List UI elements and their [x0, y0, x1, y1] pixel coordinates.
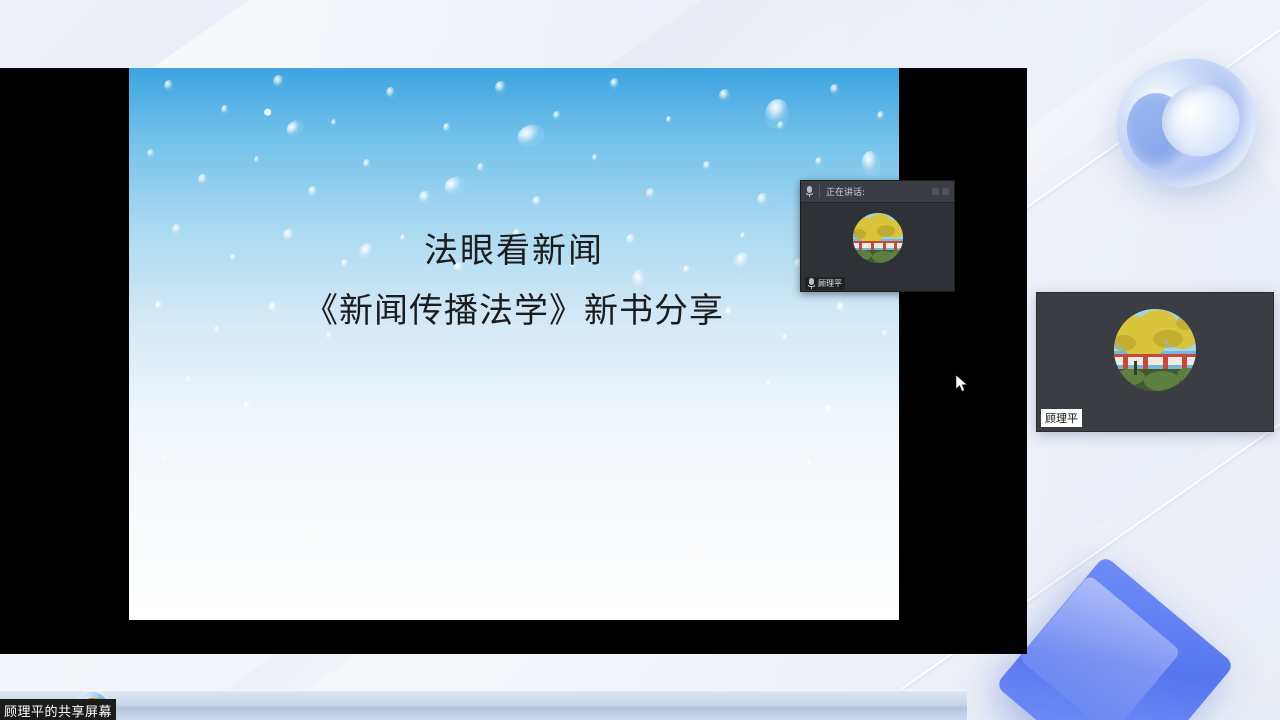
slide-text-block: 法眼看新闻 《新闻传播法学》新书分享: [129, 68, 899, 620]
mouse-pointer-icon: [956, 375, 968, 393]
speaker-panel-label: 正在讲话:: [819, 185, 865, 198]
speaker-name: 顾理平: [818, 278, 842, 289]
slide-title: 法眼看新闻: [424, 234, 604, 268]
powerpoint-slide[interactable]: 法眼看新闻 《新闻传播法学》新书分享: [129, 68, 899, 620]
share-banner-label: 顾理平的共享屏幕: [0, 699, 116, 720]
participant-name: 顾理平: [1041, 409, 1082, 427]
microphone-icon: [806, 186, 813, 197]
speaker-panel-header: 正在讲话:: [801, 181, 954, 203]
active-speaker-panel[interactable]: 正在讲话:: [800, 180, 955, 292]
expand-icon[interactable]: [942, 188, 949, 195]
minimize-icon[interactable]: [932, 188, 939, 195]
microphone-icon: [808, 278, 815, 289]
user-avatar-photo: [1114, 309, 1196, 391]
user-avatar-photo: [853, 213, 903, 263]
speaker-panel-header-icons[interactable]: [932, 188, 949, 195]
avatar: [1114, 309, 1196, 391]
speaker-panel-body: 顾理平: [801, 203, 954, 293]
slide-subtitle: 《新闻传播法学》新书分享: [304, 294, 724, 328]
speaker-name-chip: 顾理平: [805, 277, 845, 290]
taskbar[interactable]: e › 小红书 搜索一下 P: [0, 690, 967, 720]
participant-video-tile[interactable]: 顾理平: [1036, 292, 1274, 432]
shared-screen-region[interactable]: 法眼看新闻 《新闻传播法学》新书分享 正在讲话:: [0, 68, 1027, 654]
desktop: 法眼看新闻 《新闻传播法学》新书分享 正在讲话:: [0, 0, 1280, 720]
avatar: [853, 213, 903, 263]
